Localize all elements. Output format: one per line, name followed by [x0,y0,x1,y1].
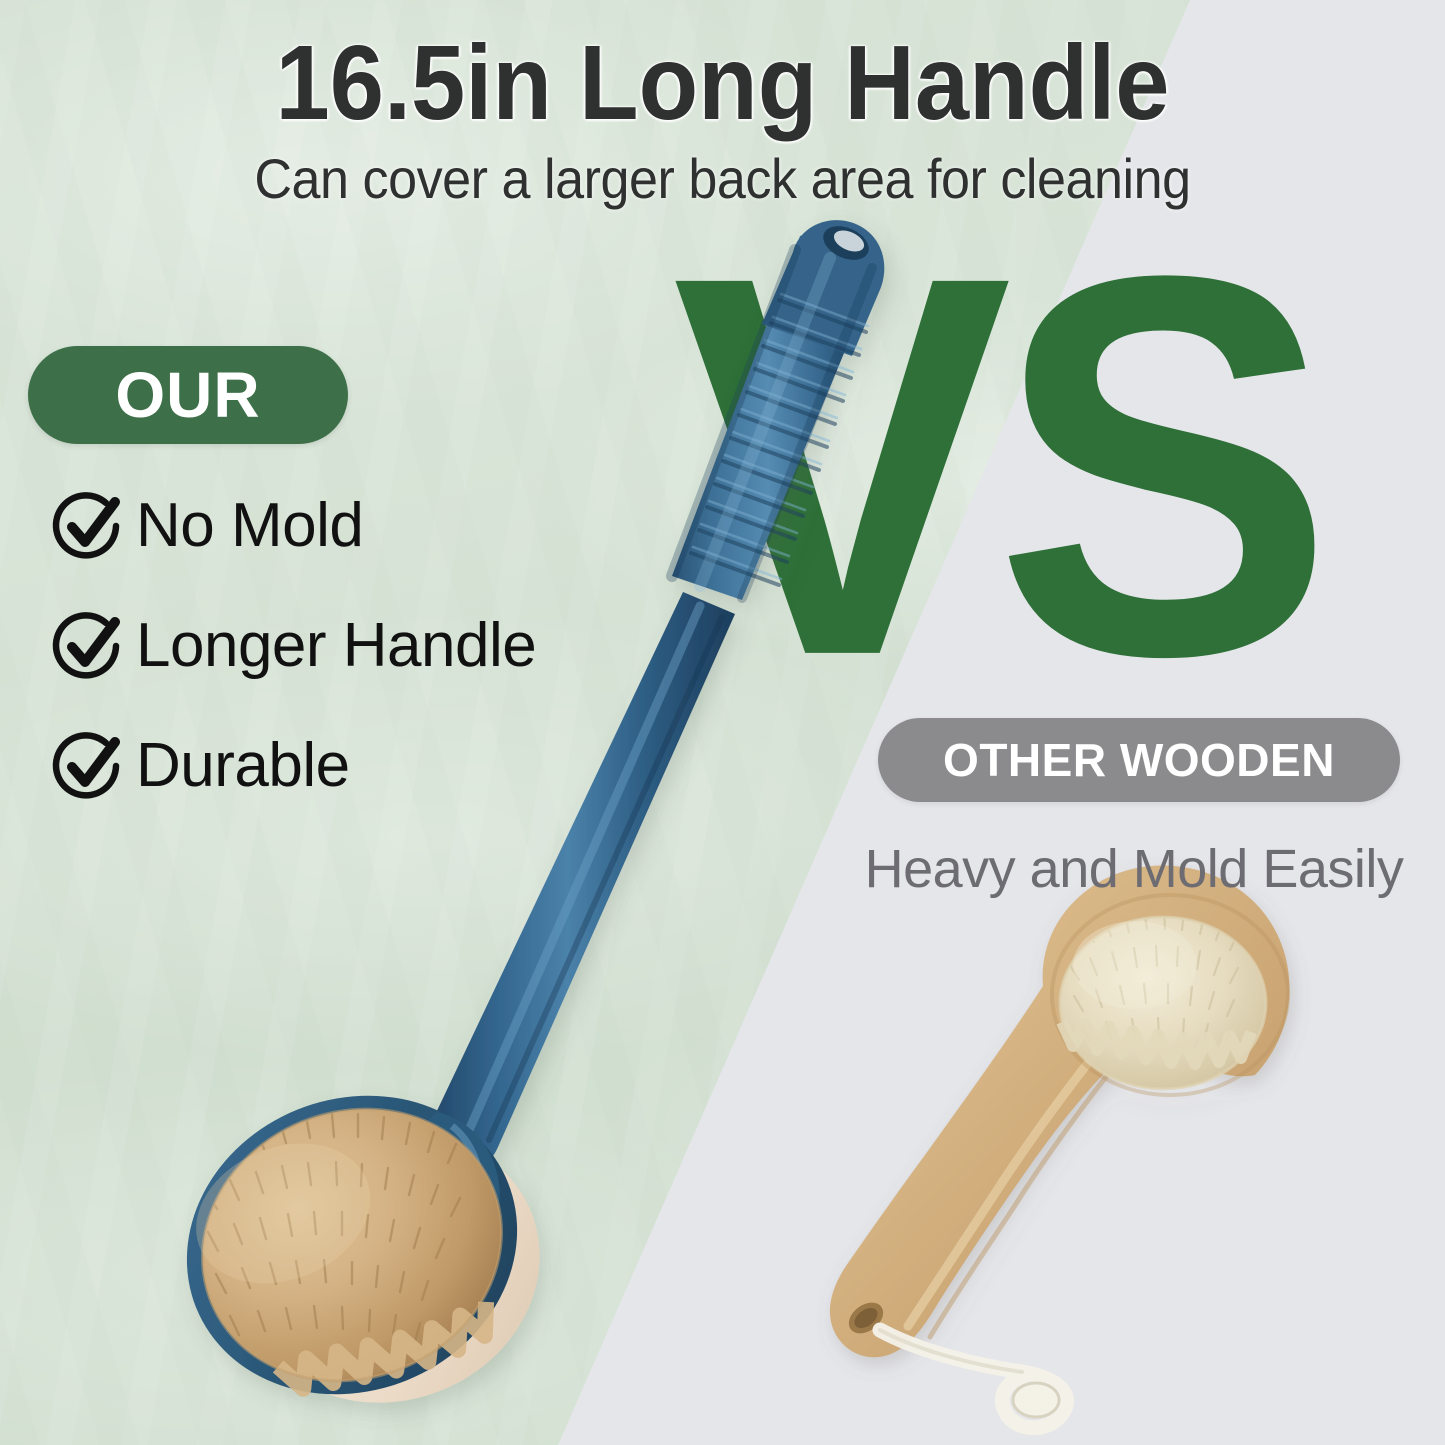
our-feature-list: No Mold Longer Handle Durable [52,490,536,850]
list-item: Durable [52,730,536,802]
list-item: Longer Handle [52,610,536,682]
page-subtitle: Can cover a larger back area for cleanin… [51,146,1395,211]
feature-label: No Mold [136,495,363,557]
page-title: 16.5in Long Handle [58,28,1387,139]
circle-check-icon [52,489,126,563]
other-caption: Heavy and Mold Easily [860,838,1408,900]
list-item: No Mold [52,490,536,562]
other-badge-label: OTHER WOODEN [943,737,1335,783]
feature-label: Durable [136,735,350,797]
circle-check-icon [52,609,126,683]
product-comparison-infographic: VS [0,0,1445,1445]
feature-label: Longer Handle [136,615,536,677]
our-badge-label: OUR [115,363,260,427]
our-badge: OUR [28,346,348,444]
circle-check-icon [52,729,126,803]
other-badge: OTHER WOODEN [878,718,1400,802]
